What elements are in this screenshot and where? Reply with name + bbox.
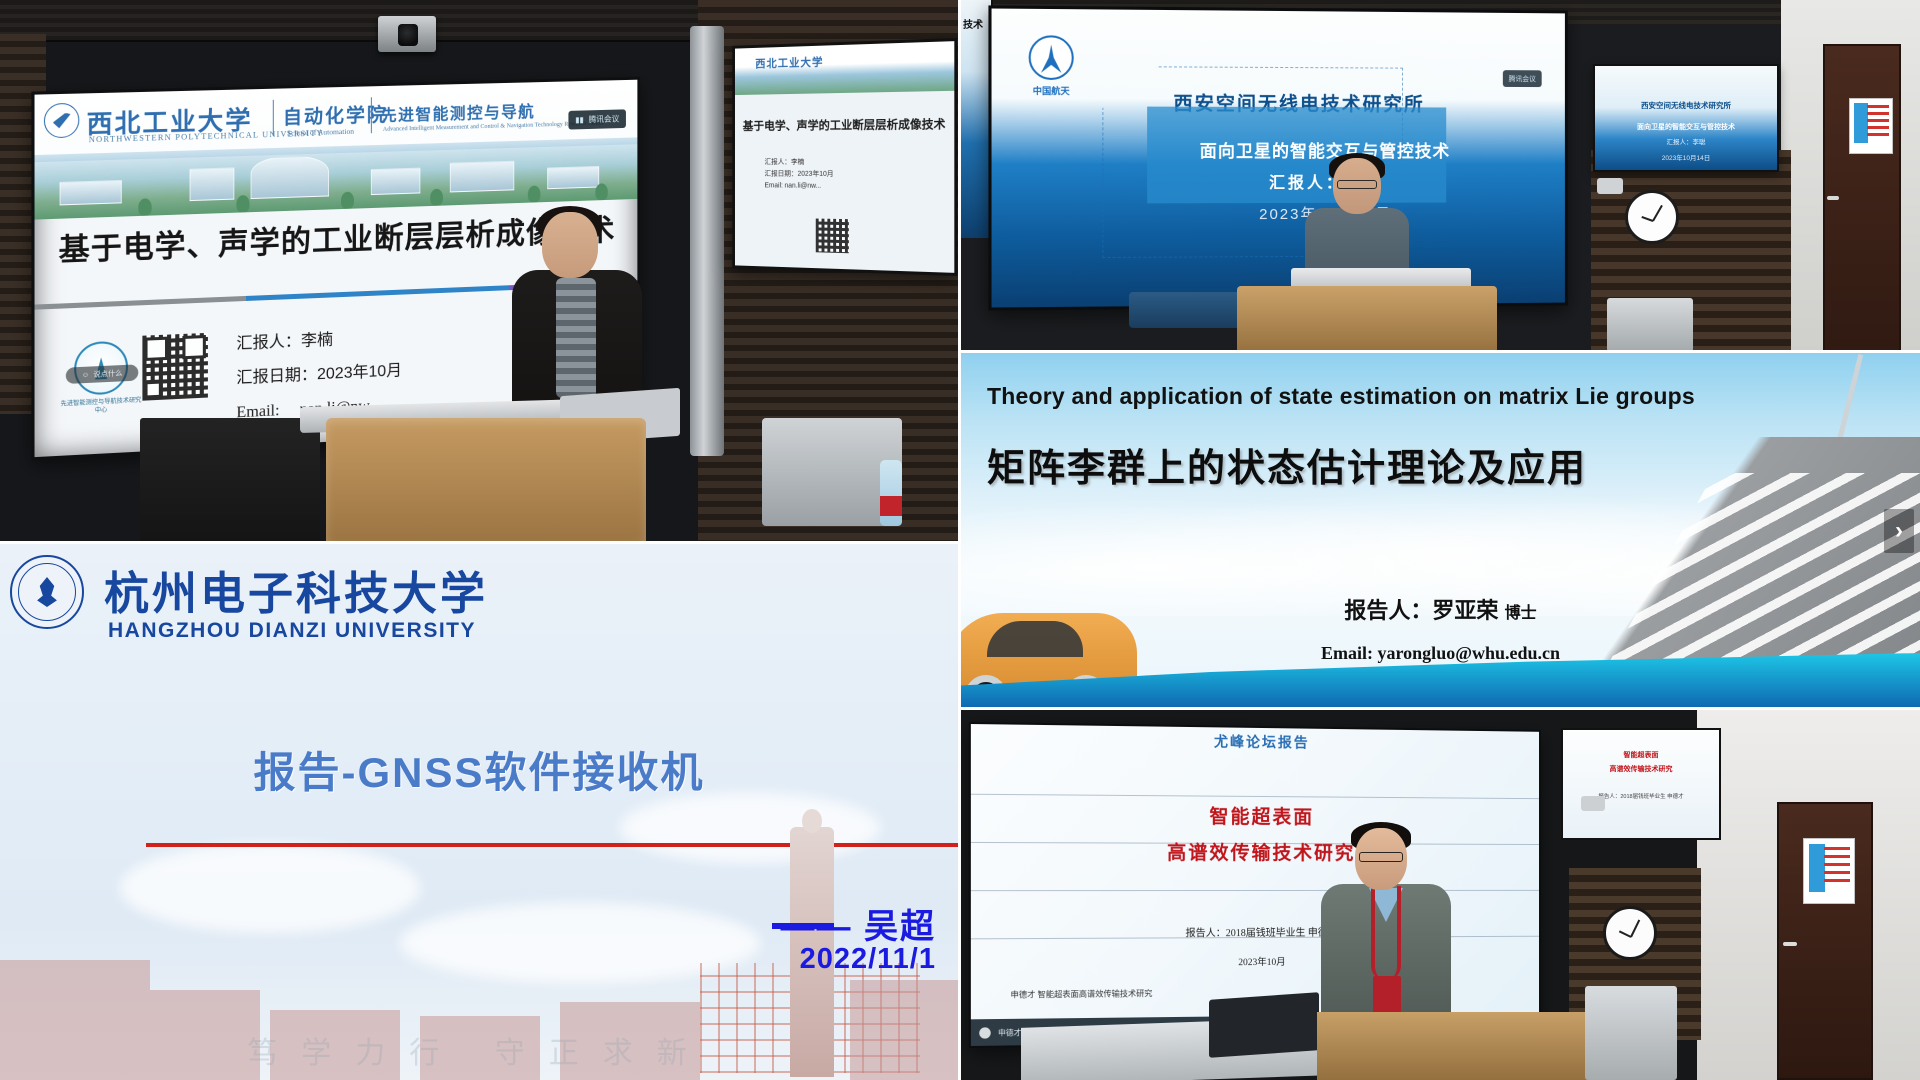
- panel-lie-groups-slide: Theory and application of state estimati…: [961, 353, 1920, 709]
- side-monitor-qr-icon: [816, 219, 849, 254]
- screen-pillar: [690, 26, 724, 456]
- side-monitor-banner: 西北工业大学: [735, 41, 954, 95]
- wall-clock: [1603, 906, 1657, 960]
- share-icon: [979, 1027, 990, 1038]
- lanyard: [1371, 886, 1401, 980]
- wall-clock: [1625, 190, 1679, 244]
- panel-metasurface-room: 尤峰论坛报告 智能超表面 高谱效传输技术研究 报告人：2018届钱班毕业生 申德…: [961, 710, 1920, 1080]
- safety-poster: [1849, 98, 1893, 154]
- slide-footer: 申德才 智能超表面高谱效传输技术研究: [1011, 988, 1153, 1001]
- podium-laptop: [1209, 992, 1319, 1058]
- panel-nwpu-room: 西北工业大学 NORTHWESTERN POLYTECHNICAL UNIVER…: [0, 0, 958, 543]
- side-monitor-email: Email: nan.li@nw...: [765, 180, 955, 194]
- divider-vertical: [958, 0, 961, 1080]
- presentation-date: 2022/11/1: [800, 943, 936, 976]
- side-monitor-institute: 西安空间无线电技术研究所: [1595, 100, 1777, 111]
- av-cabinet: [1585, 986, 1677, 1080]
- hdu-logo-icon: [10, 555, 84, 629]
- side-monitor-title-line1: 智能超表面: [1563, 750, 1719, 760]
- door-handle: [1783, 942, 1797, 946]
- side-monitor: 西安空间无线电技术研究所 面向卫星的智能交互与管控技术 汇报人：李聪 2023年…: [1593, 64, 1779, 172]
- panel-casc-room: 技术 中国航天 西安空间无线电技术研究所 面向卫星的智能交互与管控技术 汇报人：…: [961, 0, 1920, 352]
- qr-code-icon: [142, 333, 208, 401]
- safety-poster: [1803, 838, 1855, 904]
- university-name-en: HANGZHOU DIANZI UNIVERSITY: [108, 619, 476, 643]
- wall-camera: [1597, 178, 1623, 194]
- panel-hdu-slide: 杭州电子科技大学 HANGZHOU DIANZI UNIVERSITY 报告-G…: [0, 543, 958, 1080]
- school-name-en: School of Automation: [287, 127, 354, 138]
- side-monitor-meta: 汇报人：李楠 汇报日期：2023年10月 Email: nan.li@nw...: [765, 157, 955, 194]
- speak-bar: ☺ 说点什么: [66, 364, 138, 384]
- side-monitor-university: 西北工业大学: [755, 54, 823, 72]
- podium: [326, 418, 646, 543]
- main-display-screen: 中国航天 西安空间无线电技术研究所 面向卫星的智能交互与管控技术 汇报人：李聪 …: [988, 5, 1567, 310]
- university-name-cn: 杭州电子科技大学: [104, 557, 488, 622]
- next-chevron-icon[interactable]: ›: [1884, 509, 1914, 553]
- side-monitor-title: 面向卫星的智能交互与管控技术: [1595, 122, 1777, 132]
- water-bottle: [880, 460, 902, 526]
- motto-watermark: 笃学力行 守正求新: [0, 1028, 958, 1072]
- casc-logo-label: 中国航天: [1022, 84, 1079, 97]
- projector-lens-icon: [398, 24, 418, 46]
- slide-title-line2: 高谱效传输技术研究: [971, 837, 1539, 866]
- slide-title-cn: 矩阵李群上的状态估计理论及应用: [987, 437, 1587, 492]
- slide-speaker-degree: 博士: [1505, 605, 1537, 622]
- side-monitor-presenter: 汇报人：李楠: [765, 157, 955, 169]
- slide-header: 尤峰论坛报告: [971, 728, 1539, 755]
- name-badge: [1373, 976, 1401, 1014]
- slide-title: 报告-GNSS软件接收机: [0, 739, 958, 800]
- side-monitor-presenter: 汇报人：李聪: [1595, 136, 1777, 146]
- speak-bar-label: 说点什么: [93, 368, 122, 380]
- side-monitor-title: 基于电学、声学的工业断层层析成像技术: [735, 116, 954, 134]
- door-handle: [1827, 196, 1839, 200]
- meeting-badge: 腾讯会议: [1503, 70, 1542, 87]
- podium: [1317, 1012, 1617, 1080]
- desk-equipment: [1129, 292, 1247, 328]
- slide-speaker-name: 报告人：罗亚荣: [1344, 598, 1498, 623]
- collage-root: 西北工业大学 NORTHWESTERN POLYTECHNICAL UNIVER…: [0, 0, 1920, 1080]
- side-monitor-date: 2023年10月14日: [1595, 152, 1777, 162]
- glasses-icon: [1337, 180, 1377, 189]
- wall-camera: [1581, 796, 1605, 811]
- slide-banner: 西北工业大学 NORTHWESTERN POLYTECHNICAL UNIVER…: [35, 80, 638, 220]
- meeting-badge: ▮▮ 腾讯会议: [569, 109, 626, 129]
- signal-icon: ▮▮: [575, 115, 583, 124]
- lab-seal-caption: 先进智能测控与导航技术研究中心: [60, 397, 143, 417]
- slide-presenter: 报告人：2018届钱班毕业生 申德才: [971, 923, 1539, 940]
- side-monitor-title-line2: 高谱效传输技术研究: [1563, 764, 1719, 774]
- av-cabinet: [1607, 298, 1693, 352]
- title-underline: [146, 843, 958, 847]
- presenter-name: —— 吴超: [781, 899, 936, 948]
- divider-horizontal-right-top: [961, 350, 1920, 353]
- av-cabinet: [140, 418, 320, 543]
- slide-title-en: Theory and application of state estimati…: [987, 383, 1695, 410]
- side-monitor: 西北工业大学 基于电学、声学的工业断层层析成像技术 汇报人：李楠 汇报日期：20…: [732, 38, 957, 276]
- slide-title-line1: 智能超表面: [971, 800, 1539, 830]
- smiley-icon: ☺: [82, 371, 89, 378]
- meeting-tag-label: 腾讯会议: [589, 113, 620, 125]
- divider-horizontal-right-bottom: [961, 707, 1920, 710]
- left-edge-text: 技术: [963, 16, 983, 31]
- podium: [1237, 286, 1497, 352]
- divider-horizontal-left: [0, 541, 958, 544]
- school-name-cn: 自动化学院: [283, 100, 388, 130]
- side-monitor: 智能超表面 高谱效传输技术研究 报告人：2018届钱班毕业生 申德才: [1561, 728, 1721, 840]
- casc-logo-icon: [1029, 35, 1074, 80]
- glasses-icon: [1359, 852, 1403, 862]
